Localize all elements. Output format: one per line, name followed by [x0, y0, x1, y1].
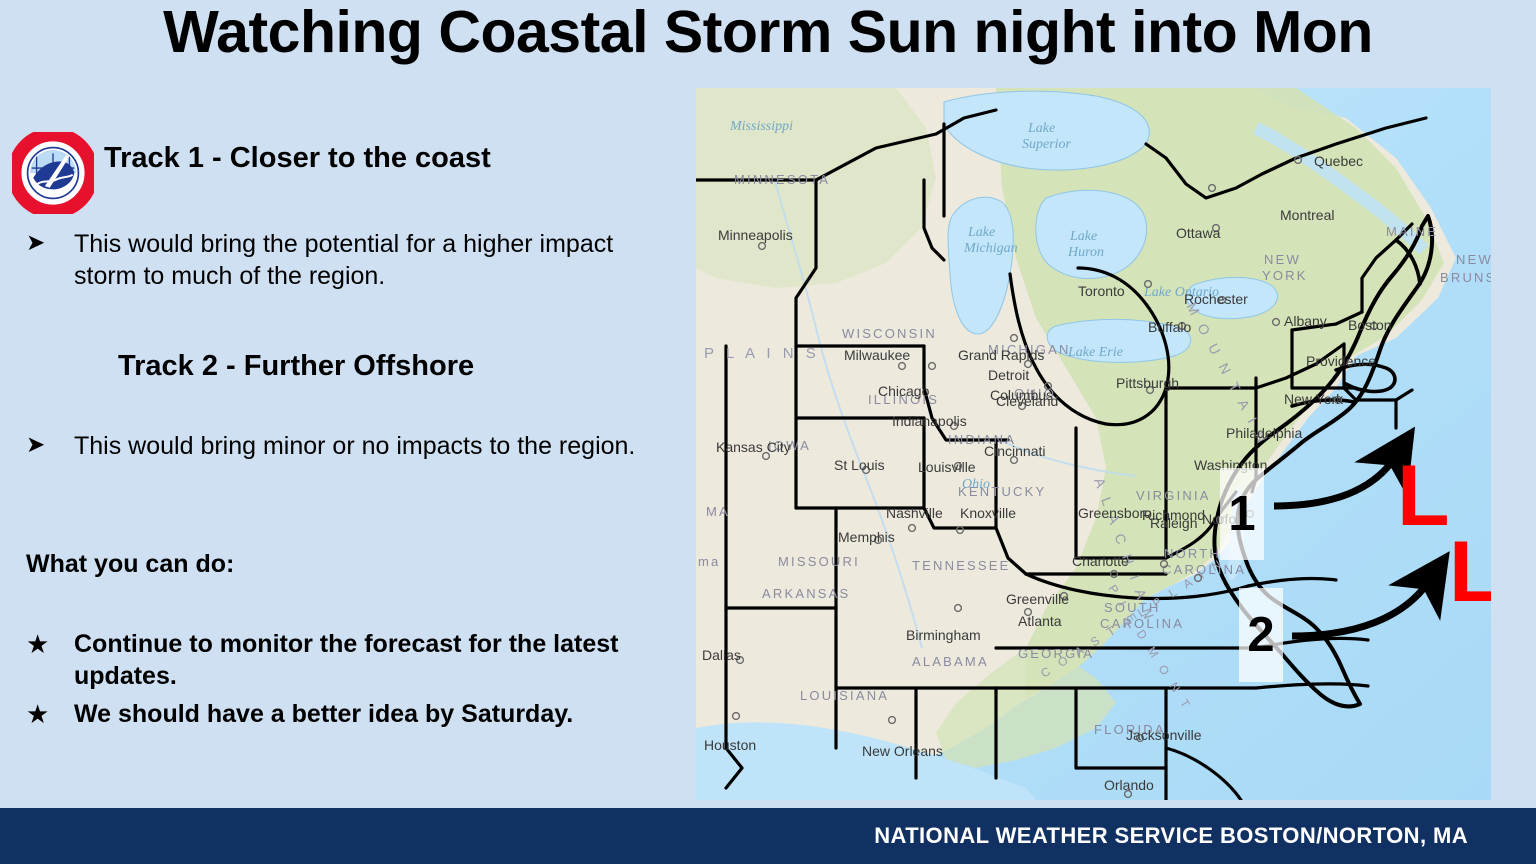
footer-bar: NATIONAL WEATHER SERVICE BOSTON/NORTON, … — [0, 808, 1536, 864]
track-number-label-2: 2 — [1239, 588, 1283, 682]
track-1-bullet-text: This would bring the potential for a hig… — [74, 228, 666, 292]
star-bullet-icon: ★ — [26, 628, 74, 692]
call-to-action-heading: What you can do: — [26, 550, 234, 579]
track-1-heading: Track 1 - Closer to the coast — [104, 142, 491, 175]
action-item-1-text: Continue to monitor the forecast for the… — [74, 628, 666, 692]
track-2-bullet-text: This would bring minor or no impacts to … — [74, 430, 635, 462]
storm-track-arrows — [696, 88, 1491, 800]
arrow-bullet-icon: ➤ — [26, 430, 74, 462]
track-1-bullet: ➤ This would bring the potential for a h… — [26, 228, 666, 292]
action-item-2-text: We should have a better idea by Saturday… — [74, 698, 573, 731]
track-2-bullet: ➤ This would bring minor or no impacts t… — [26, 430, 676, 462]
track-number-label-1: 1 — [1220, 468, 1264, 560]
storm-track-map[interactable]: MINNESOTA WISCONSIN IOWA MISSOURI ARKANS… — [696, 88, 1491, 800]
star-bullet-icon: ★ — [26, 698, 74, 731]
track-2-heading: Track 2 - Further Offshore — [118, 350, 474, 383]
nws-seal-logo: NWS — [12, 132, 94, 214]
left-content-column: NWS Track 1 - Closer to the coast ➤ This… — [0, 100, 696, 800]
low-pressure-marker-2: L — [1449, 538, 1491, 607]
low-pressure-marker-1: L — [1397, 462, 1450, 531]
footer-office-text: NATIONAL WEATHER SERVICE BOSTON/NORTON, … — [874, 823, 1468, 849]
action-item-2: ★ We should have a better idea by Saturd… — [26, 698, 676, 731]
arrow-bullet-icon: ➤ — [26, 228, 74, 292]
page-title: Watching Coastal Storm Sun night into Mo… — [0, 2, 1536, 64]
action-item-1: ★ Continue to monitor the forecast for t… — [26, 628, 666, 692]
